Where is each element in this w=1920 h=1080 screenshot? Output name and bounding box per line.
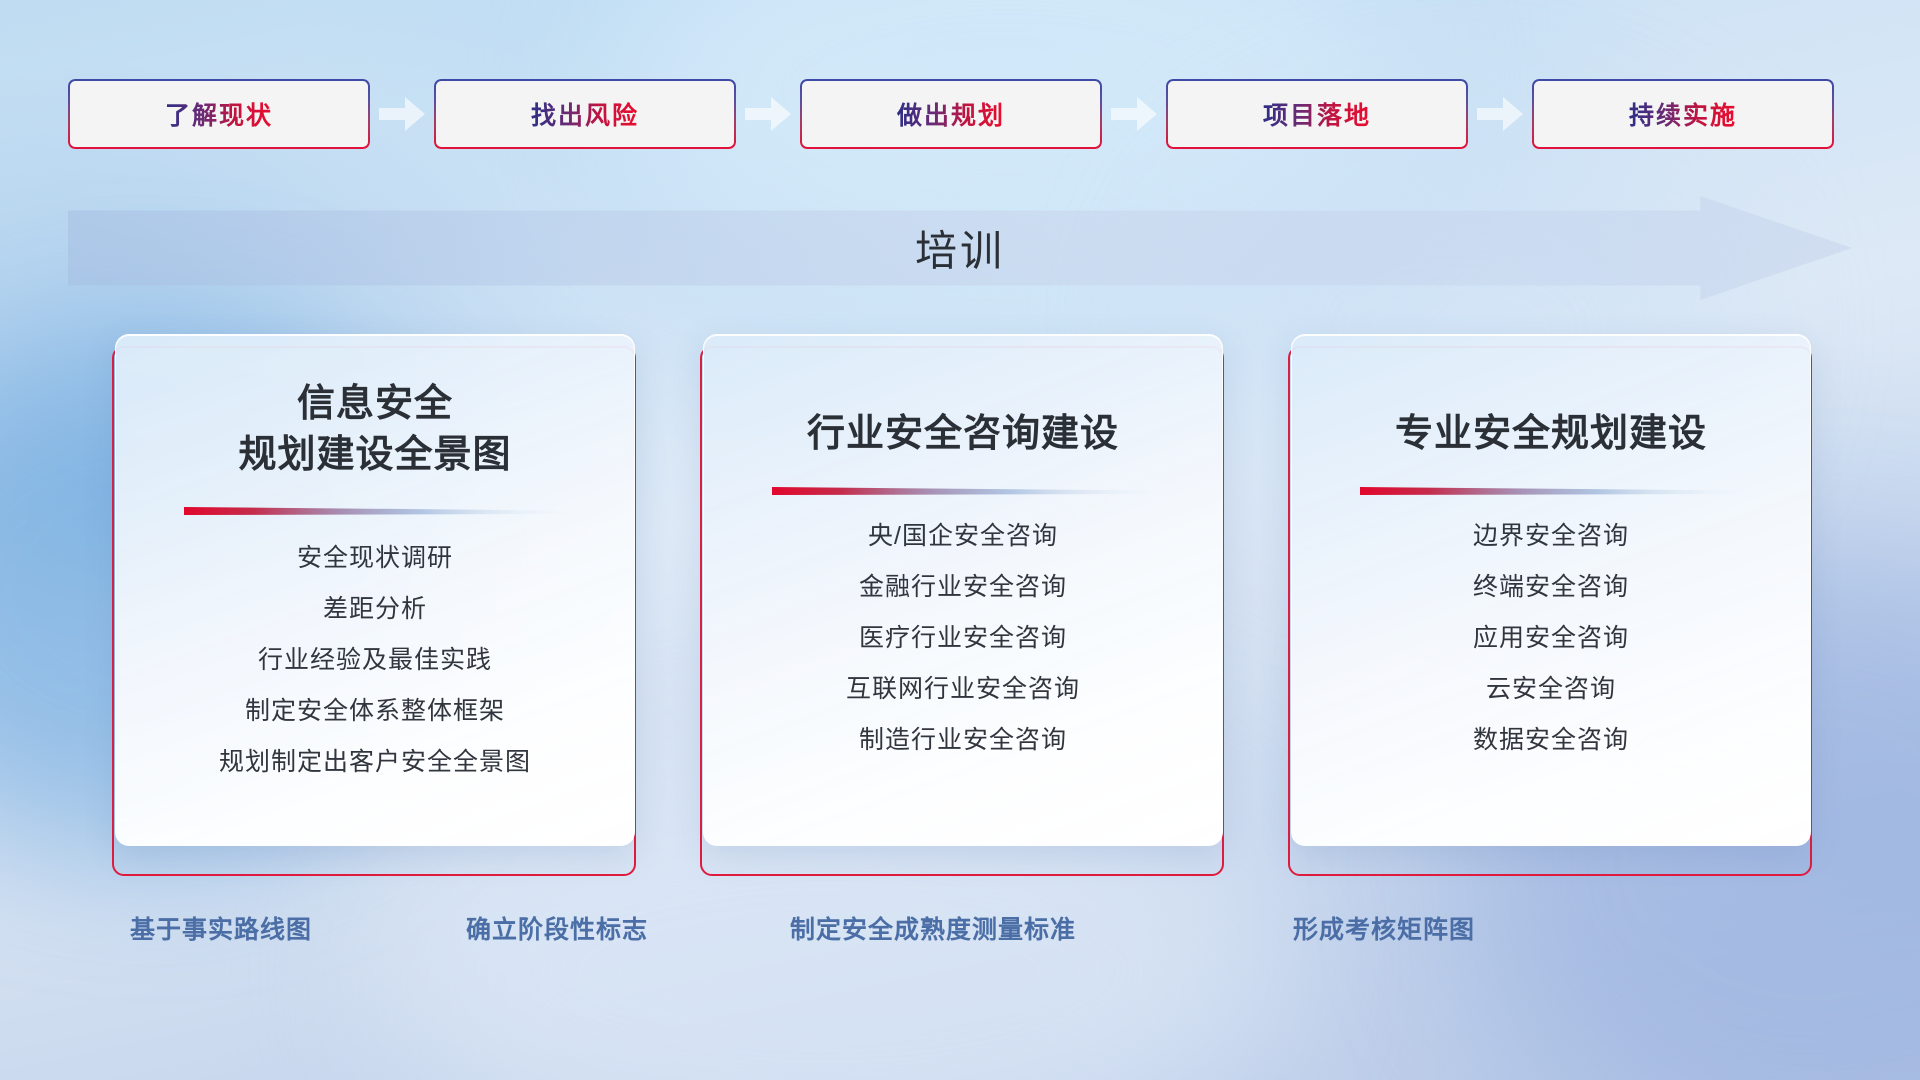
gradient-divider-icon (184, 506, 566, 518)
step-box-project-landing[interactable]: 项目落地 (1166, 79, 1468, 149)
card-industry-security-consulting[interactable]: 行业安全咨询建设 (703, 334, 1223, 846)
list-item: 边界安全咨询 (1292, 524, 1810, 549)
step-label: 找出风险 (531, 96, 639, 132)
arrow-right-icon (736, 78, 800, 150)
card-title: 信息安全 规划建设全景图 (238, 379, 511, 480)
list-item: 医疗行业安全咨询 (704, 626, 1222, 651)
list-item: 终端安全咨询 (1292, 575, 1810, 600)
list-item: 行业经验及最佳实践 (116, 648, 634, 673)
step-box-continuous-implementation[interactable]: 持续实施 (1532, 79, 1834, 149)
card-slot-1: 信息安全 规划建设全景图 (112, 334, 636, 874)
arrow-right-icon (1468, 78, 1532, 150)
gradient-divider-icon (772, 486, 1154, 498)
slide-canvas: 了解现状 找出风险 做出规划 (0, 0, 1920, 1080)
footnote-assessment-matrix: 形成考核矩阵图 (1293, 910, 1475, 946)
process-step-4: 项目落地 (1166, 78, 1532, 150)
gradient-divider-icon (1360, 486, 1742, 498)
step-label: 做出规划 (897, 96, 1005, 132)
card-row: 信息安全 规划建设全景图 (112, 334, 1812, 874)
card-professional-security-planning[interactable]: 专业安全规划建设 (1291, 334, 1811, 846)
process-step-row: 了解现状 找出风险 做出规划 (68, 78, 1852, 150)
footnote-stage-milestones: 确立阶段性标志 (466, 910, 648, 946)
list-item: 数据安全咨询 (1292, 728, 1810, 753)
card-item-list: 安全现状调研 差距分析 行业经验及最佳实践 制定安全体系整体框架 规划制定出客户… (116, 546, 634, 775)
step-box-understand-status[interactable]: 了解现状 (68, 79, 370, 149)
process-step-2: 找出风险 (434, 78, 800, 150)
card-item-list: 边界安全咨询 终端安全咨询 应用安全咨询 云安全咨询 数据安全咨询 (1292, 524, 1810, 753)
list-item: 差距分析 (116, 597, 634, 622)
process-step-5: 持续实施 (1532, 79, 1834, 149)
list-item: 应用安全咨询 (1292, 626, 1810, 651)
step-box-make-plan[interactable]: 做出规划 (800, 79, 1102, 149)
list-item: 金融行业安全咨询 (704, 575, 1222, 600)
list-item: 制造行业安全咨询 (704, 728, 1222, 753)
card-title: 行业安全咨询建设 (807, 409, 1119, 460)
footnote-fact-based-roadmap: 基于事实路线图 (130, 910, 312, 946)
card-title: 专业安全规划建设 (1395, 409, 1707, 460)
list-item: 制定安全体系整体框架 (116, 699, 634, 724)
footnote-maturity-measure: 制定安全成熟度测量标准 (790, 910, 1076, 946)
step-label: 了解现状 (165, 96, 273, 132)
step-label: 项目落地 (1263, 96, 1371, 132)
list-item: 规划制定出客户安全全景图 (116, 750, 634, 775)
list-item: 互联网行业安全咨询 (704, 677, 1222, 702)
list-item: 央/国企安全咨询 (704, 524, 1222, 549)
card-item-list: 央/国企安全咨询 金融行业安全咨询 医疗行业安全咨询 互联网行业安全咨询 制造行… (704, 524, 1222, 753)
training-banner-title: 培训 (68, 218, 1852, 279)
card-slot-2: 行业安全咨询建设 (700, 334, 1224, 874)
training-banner: 培训 (68, 196, 1852, 300)
arrow-right-icon (1102, 78, 1166, 150)
arrow-right-icon (370, 78, 434, 150)
step-box-find-risk[interactable]: 找出风险 (434, 79, 736, 149)
card-information-security-blueprint[interactable]: 信息安全 规划建设全景图 (115, 334, 635, 846)
list-item: 安全现状调研 (116, 546, 634, 571)
card-slot-3: 专业安全规划建设 (1288, 334, 1812, 874)
footnote-row: 基于事实路线图 确立阶段性标志 制定安全成熟度测量标准 形成考核矩阵图 (0, 910, 1920, 970)
process-step-3: 做出规划 (800, 78, 1166, 150)
list-item: 云安全咨询 (1292, 677, 1810, 702)
step-label: 持续实施 (1629, 96, 1737, 132)
process-step-1: 了解现状 (68, 78, 434, 150)
